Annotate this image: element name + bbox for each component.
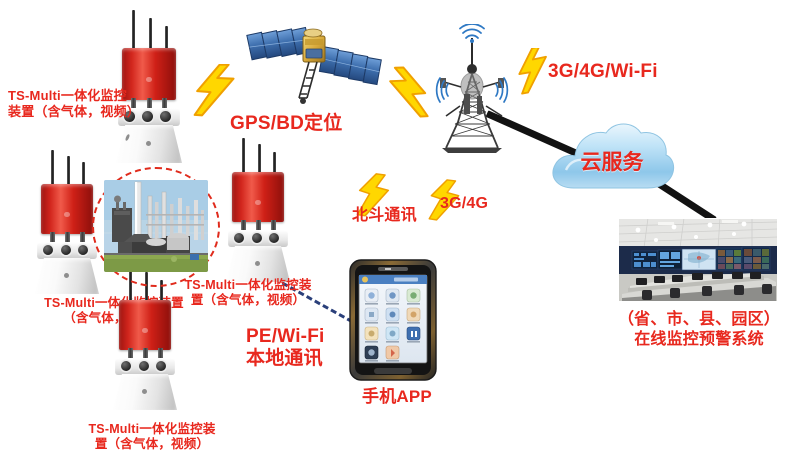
industrial-plant-photo <box>104 180 208 272</box>
label-device-bottom-line2: 置（含气体，视频） <box>62 437 242 452</box>
base-indicator <box>146 141 151 146</box>
device-body <box>41 184 93 234</box>
device-body <box>119 300 171 350</box>
label-device-bottom: TS-Multi一体化监控装 置（含气体，视频） <box>62 422 242 453</box>
cloud-icon: 云服务 <box>546 118 678 196</box>
rugged-handheld-device[interactable] <box>348 258 438 382</box>
label-device-bottom-line1: TS-Multi一体化监控装 <box>62 422 242 437</box>
sensor-port <box>61 245 71 255</box>
label-device-top-line1: TS-Multi一体化监控 <box>8 88 140 104</box>
sensor-device-4 <box>104 268 196 418</box>
label-device-top: TS-Multi一体化监控 装置（含气体，视频） <box>8 88 140 120</box>
label-device-top-line2: 装置（含气体，视频） <box>8 104 140 120</box>
sensor-port <box>252 233 262 243</box>
base-indicator <box>142 389 147 394</box>
label-control-center: （省、市、县、园区） 在线监控预警系统 <box>604 310 794 350</box>
control-room-photo <box>618 218 778 302</box>
sensor-port <box>78 245 88 255</box>
label-local-comm: PE/Wi-Fi 本地通讯 <box>246 326 324 371</box>
sensor-port <box>43 245 53 255</box>
sensor-port <box>269 233 279 243</box>
sensor-port <box>234 233 244 243</box>
sensor-port <box>156 361 166 371</box>
label-gps-bd: GPS/BD定位 <box>230 112 342 135</box>
cloud-label: 云服务 <box>546 146 678 176</box>
label-local-comm-line2: 本地通讯 <box>246 348 324 370</box>
label-control-center-line2: 在线监控预警系统 <box>604 330 794 350</box>
sensor-port <box>160 111 171 122</box>
label-local-comm-line1: PE/Wi-Fi <box>246 326 324 348</box>
label-beidou: 北斗通讯 <box>352 206 417 226</box>
label-phone-app: 手机APP <box>362 387 432 408</box>
lightning-bolt-satellite-to-tower <box>380 66 436 124</box>
label-control-center-line1: （省、市、县、园区） <box>604 310 794 330</box>
sensor-device-3 <box>218 138 310 288</box>
sensor-port <box>121 361 131 371</box>
label-3g4g: 3G/4G <box>440 194 488 214</box>
label-3g4g-wifi: 3G/4G/Wi-Fi <box>548 60 658 83</box>
satellite-icon <box>243 6 383 114</box>
sensor-port <box>139 361 149 371</box>
sensor-port <box>142 111 153 122</box>
device-body <box>232 172 284 222</box>
base-indicator <box>255 261 260 266</box>
base-indicator <box>64 273 69 278</box>
diagram-canvas: 云服务 TS-Multi一体化监控 装置（含气体，视频） <box>0 0 797 464</box>
